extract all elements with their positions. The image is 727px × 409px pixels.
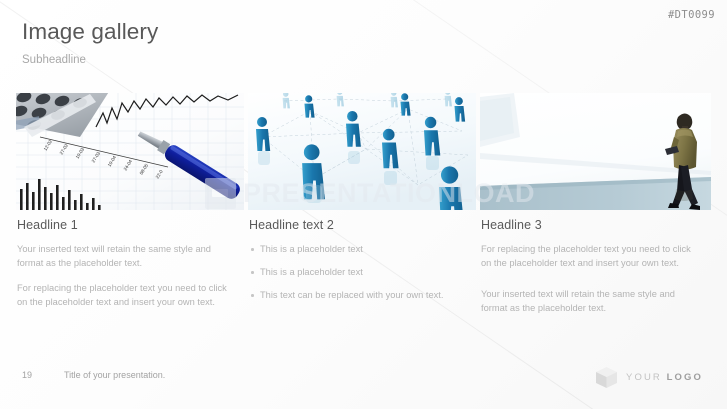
content-column-2: Headline text 2 This is a placeholder te… xyxy=(249,218,467,311)
column-2-headline: Headline text 2 xyxy=(249,218,467,232)
logo-word-1: YOUR xyxy=(626,372,662,383)
column-1-headline: Headline 1 xyxy=(17,218,235,232)
content-column-3: Headline 3 For replacing the placeholder… xyxy=(481,218,703,315)
image-2-people-network[interactable] xyxy=(248,93,476,210)
page-title: Image gallery xyxy=(22,19,158,45)
footer-page-number: 19 xyxy=(22,370,32,380)
page-subtitle: Subheadline xyxy=(22,54,86,66)
content-column-1: Headline 1 Your inserted text will retai… xyxy=(17,218,235,309)
list-item: This is a placeholder text xyxy=(249,265,467,279)
column-3-paragraph-2: Your inserted text will retain the same … xyxy=(481,287,703,315)
cube-logo-icon xyxy=(595,366,618,389)
column-3-paragraph-1: For replacing the placeholder text you n… xyxy=(481,242,703,270)
logo-word-2: LOGO xyxy=(667,372,703,383)
list-item: This text can be replaced with your own … xyxy=(249,288,467,302)
footer-title: Title of your presentation. xyxy=(64,370,165,380)
image-3-businessman-walking[interactable] xyxy=(480,93,711,210)
logo-text: YOUR LOGO xyxy=(626,372,703,383)
column-2-bullet-list: This is a placeholder text This is a pla… xyxy=(249,242,467,302)
image-1-financial-chart[interactable]: 12-02 27-02 10-03 27-03 10-04 24-04 08-0… xyxy=(16,93,244,210)
businessman-walking-photo xyxy=(480,93,711,210)
financial-chart-calculator-pen-photo: 12-02 27-02 10-03 27-03 10-04 24-04 08-0… xyxy=(16,93,244,210)
footer-logo: YOUR LOGO xyxy=(595,366,703,389)
list-item: This is a placeholder text xyxy=(249,242,467,256)
document-code: #DT0099 xyxy=(668,9,715,21)
blue-people-network-photo xyxy=(248,93,476,210)
column-1-paragraph-2: For replacing the placeholder text you n… xyxy=(17,281,235,309)
column-1-paragraph-1: Your inserted text will retain the same … xyxy=(17,242,235,270)
slide: #DT0099 Image gallery Subheadline xyxy=(0,0,727,409)
column-3-headline: Headline 3 xyxy=(481,218,703,232)
